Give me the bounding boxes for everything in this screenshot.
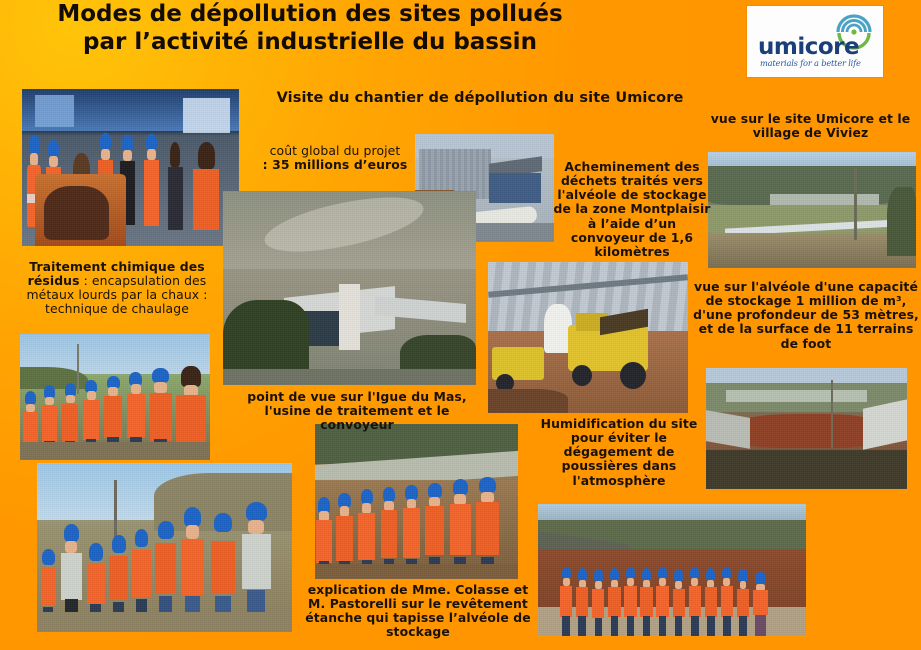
caption-cost-line1: coût global du projet (270, 143, 401, 158)
caption-point-de-vue: point de vue sur l'Igue du Mas, l'usine … (226, 390, 488, 432)
page-title-line1: Modes de dépollution des sites pollués (0, 0, 620, 28)
page-title-line2: par l’activité industrielle du bassin (0, 28, 620, 56)
caption-vue-site-text: vue sur le site Umicore et le village de… (711, 111, 911, 140)
photo-grain (708, 152, 916, 268)
caption-traitement: Traitement chimique des résidus : encaps… (8, 260, 226, 317)
caption-vue-alveole-text: vue sur l'alvéole d'une capacité de stoc… (693, 279, 919, 351)
caption-point-de-vue-text: point de vue sur l'Igue du Mas, l'usine … (247, 389, 466, 432)
photo-grain (20, 334, 210, 460)
caption-cost-line2: : 35 millions d’euros (263, 157, 408, 172)
caption-explication-text: explication de Mme. Colasse et M. Pastor… (305, 582, 531, 639)
photo-group-slope (20, 334, 210, 460)
photo-grain (22, 89, 239, 246)
photo-grain (315, 424, 518, 579)
poster-canvas: Modes de dépollution des sites pollués p… (0, 0, 921, 650)
photo-village-viviez (708, 152, 916, 268)
photo-grain (223, 191, 476, 385)
caption-acheminement-text: Acheminement des déchets traités vers l'… (553, 159, 710, 259)
caption-vue-alveole: vue sur l'alvéole d'une capacité de stoc… (692, 280, 920, 351)
caption-humidification-text: Humidification du site pour éviter le dé… (541, 416, 698, 488)
caption-acheminement: Acheminement des déchets traités vers l'… (549, 160, 715, 259)
photo-grain (538, 504, 806, 636)
caption-explication: explication de Mme. Colasse et M. Pastor… (302, 583, 534, 640)
logo-wordmark: umicore (758, 36, 859, 59)
photo-alveole-stockage (706, 368, 907, 489)
page-subtitle: Visite du chantier de dépollution du sit… (230, 90, 730, 107)
logo-tagline: materials for a better life (760, 58, 861, 68)
photo-grain (37, 463, 292, 632)
photo-group-explanation (37, 463, 292, 632)
photo-bus-interior (22, 89, 239, 246)
umicore-logo: umicore materials for a better life (747, 6, 883, 77)
photo-group-liner (315, 424, 518, 579)
caption-vue-site: vue sur le site Umicore et le village de… (700, 112, 921, 140)
photo-dumper-truck (488, 262, 688, 413)
photo-igue-du-mas (223, 191, 476, 385)
photo-grain (488, 262, 688, 413)
photo-group-photo (538, 504, 806, 636)
page-title: Modes de dépollution des sites pollués p… (0, 0, 620, 56)
caption-humidification: Humidification du site pour éviter le dé… (536, 417, 702, 488)
caption-cost: coût global du projet : 35 millions d’eu… (255, 144, 415, 172)
photo-grain (706, 368, 907, 489)
